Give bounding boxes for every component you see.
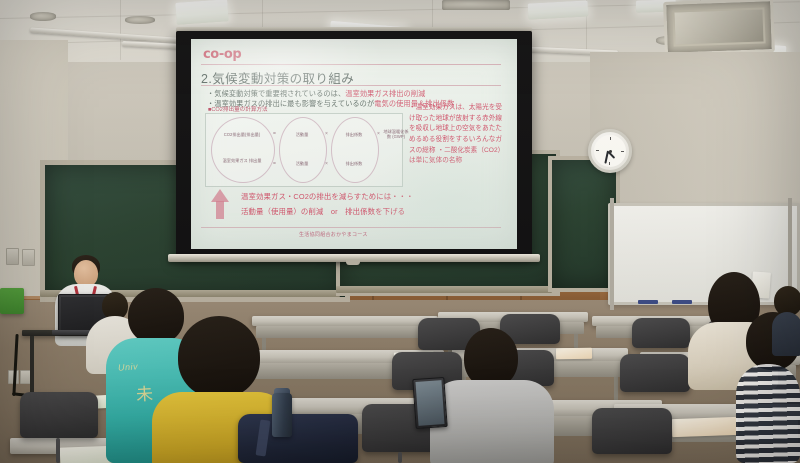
- slide-right-column: ・温室効果ガスは、太陽光を受け取った地球が放射する赤外線を吸収し地球上の空気をあ…: [409, 103, 507, 167]
- diagram-op-r1-2: ×: [325, 131, 328, 137]
- slide-bullet-1: ・気候変動対策で重要視されているのは、温室効果ガス排出の削減: [207, 89, 425, 99]
- title-divider: [201, 85, 501, 86]
- diagram-oval-2: [279, 117, 327, 183]
- ceiling-speaker: [442, 0, 510, 10]
- bullet-1-text: ・気候変動対策で重要視されているのは、: [207, 89, 345, 98]
- water-bottle[interactable]: [272, 393, 292, 437]
- callout-line-2: 活動量（使用量）の削減 or 排出係数を下げる: [241, 206, 405, 217]
- presenter-head: [74, 260, 98, 287]
- green-storage-box: [0, 288, 24, 314]
- handout-paper[interactable]: [672, 417, 739, 437]
- navy-backpack[interactable]: [238, 414, 358, 463]
- ceiling-speaker: [125, 16, 155, 24]
- laptop-screen: [415, 380, 444, 426]
- diagram-cell-r1c1: CO2排出量(排出量): [217, 132, 267, 138]
- student-top: [772, 312, 800, 356]
- student-top: [736, 364, 800, 463]
- classroom-photo: co-op 2.気候変動対策の取り組み ・気候変動対策で重要視されているのは、温…: [0, 0, 800, 463]
- footer-divider: [201, 227, 501, 228]
- coop-logo: co-op: [203, 47, 241, 62]
- shirt-kanji: 未: [135, 380, 153, 406]
- chalk-tray: [336, 286, 552, 293]
- diagram-oval-3: [331, 117, 379, 183]
- projected-slide: co-op 2.気候変動対策の取り組み ・気候変動対策で重要視されているのは、温…: [191, 39, 517, 249]
- bullet-1-highlight: 温室効果ガス排出の削減: [345, 89, 425, 98]
- diagram-oval-1: [211, 117, 275, 183]
- handout-paper[interactable]: [556, 348, 592, 360]
- whiteboard-leg: [610, 198, 614, 310]
- chair[interactable]: [592, 408, 672, 454]
- ceiling-grid-line: [120, 0, 121, 60]
- screen-pull-knob[interactable]: [346, 260, 360, 265]
- diagram-op-r1-3: ×: [377, 131, 380, 137]
- ceiling-light-panel: [528, 0, 589, 19]
- chair[interactable]: [620, 354, 690, 392]
- ceiling-light-panel: [175, 0, 228, 25]
- diagram-op-r2-2: ×: [325, 161, 328, 167]
- diagram-caption: ■CO2排出量の計算方法: [208, 105, 268, 113]
- wall-clock: [588, 129, 632, 173]
- student-head: [464, 328, 518, 388]
- shirt-stripes: [736, 364, 800, 463]
- clock-tick: [596, 150, 599, 151]
- diagram-op-r2-1: =: [273, 161, 276, 167]
- student-head: [178, 316, 260, 398]
- student-laptop[interactable]: [412, 377, 447, 429]
- clock-center-pin: [609, 150, 612, 153]
- chair[interactable]: [20, 392, 98, 438]
- ceiling-speaker: [30, 12, 56, 21]
- student-dark-right: [772, 286, 800, 350]
- diagram-cell-r1c4: 地球温暖化係数 (GWP): [383, 129, 409, 140]
- shirt-print-text: Univ: [118, 361, 139, 372]
- air-conditioner-vent: [663, 0, 775, 56]
- logo-divider: [201, 64, 501, 65]
- diagram-cell-r2c3: 排出係数: [336, 161, 372, 167]
- wall-outlet[interactable]: [6, 248, 19, 265]
- callout-line-1: 温室効果ガス・CO2の排出を減らすためには・・・: [241, 191, 414, 202]
- student-top: [430, 380, 554, 463]
- clock-face: [594, 135, 626, 167]
- chair[interactable]: [632, 318, 690, 348]
- slide-footer: 生活協同組合おかやまコース: [299, 231, 368, 238]
- up-arrow-stem: [216, 201, 224, 219]
- clock-tick: [609, 163, 610, 166]
- clock-tick: [622, 151, 625, 152]
- wall-outlet[interactable]: [22, 249, 35, 266]
- diagram-cell-r2c1: 温室効果ガス 排出量: [217, 158, 267, 163]
- chair-leg: [398, 452, 402, 463]
- student-grey: [430, 328, 554, 463]
- whiteboard-marker[interactable]: [638, 300, 658, 304]
- diagram-cell-r2c2: 活動量: [284, 161, 320, 167]
- diagram-cell-r1c2: 活動量: [284, 132, 320, 138]
- diagram-op-r1-1: =: [273, 131, 276, 137]
- clock-tick: [610, 137, 611, 140]
- chair-leg: [56, 438, 60, 463]
- diagram-cell-r1c3: 排出係数: [336, 132, 372, 138]
